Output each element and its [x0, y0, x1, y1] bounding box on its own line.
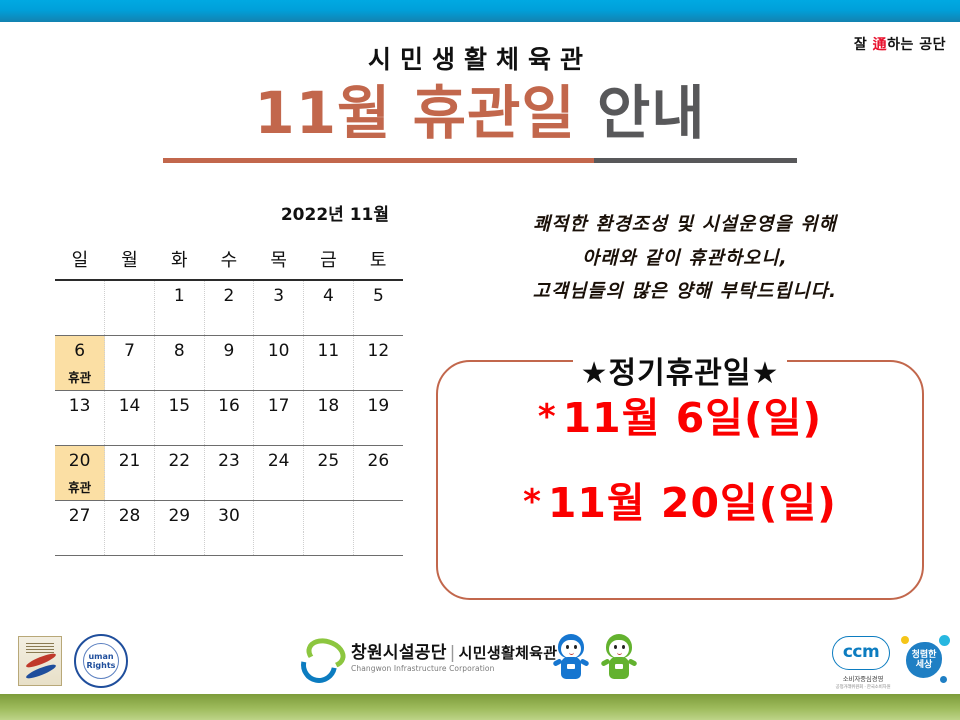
- notice-line-1: 쾌적한 환경조성 및 시설운영을 위해: [440, 208, 930, 242]
- human-rights-line2: Rights: [87, 661, 116, 670]
- calendar-day-28[interactable]: 28: [105, 501, 155, 533]
- calendar-day-empty: [254, 501, 304, 533]
- mascot-green-icon: [600, 634, 638, 686]
- calendar-cell-note: [105, 422, 155, 446]
- mascot-green-face: [609, 640, 629, 658]
- calendar-day-3[interactable]: 3: [254, 280, 304, 312]
- calendar-week-subrow: 휴관: [55, 367, 403, 391]
- ccm-caption-primary: 소비자중심경영: [832, 673, 894, 683]
- notice-line-2: 아래와 같이 휴관하오니,: [440, 242, 930, 276]
- mascot-green-eye-right: [622, 645, 625, 649]
- calendar-cell-note: [353, 312, 403, 336]
- calendar-cell-note: [353, 532, 403, 556]
- title-underline: [163, 158, 797, 163]
- calendar-header-row: 일월화수목금토: [55, 245, 403, 280]
- calendar-cell-note: [353, 477, 403, 501]
- venue-name: 시민생활체육관: [0, 40, 960, 76]
- calendar-day-2[interactable]: 2: [204, 280, 254, 312]
- org-name-divider: |: [450, 643, 456, 663]
- clean-world-dot-yellow: [901, 636, 909, 644]
- calendar-day-24[interactable]: 24: [254, 446, 304, 478]
- calendar-cell-note: [304, 312, 354, 336]
- calendar-cell-note: [204, 422, 254, 446]
- ccm-caption-secondary: 공정거래위원회 · 한국소비자원: [832, 684, 894, 690]
- calendar-day-1[interactable]: 1: [154, 280, 204, 312]
- calendar-cell-note: [154, 367, 204, 391]
- page-title: 11월 휴관일 안내: [0, 80, 960, 147]
- notice-text: 쾌적한 환경조성 및 시설운영을 위해아래와 같이 휴관하오니,고객님들의 많은…: [440, 208, 930, 309]
- calendar-day-5[interactable]: 5: [353, 280, 403, 312]
- calendar-day-22[interactable]: 22: [154, 446, 204, 478]
- calendar-day-25[interactable]: 25: [304, 446, 354, 478]
- mascot-green-eye-left: [614, 645, 617, 649]
- calendar-cell-note: [304, 477, 354, 501]
- org-name-korean: 창원시설공단|시민생활체육관: [351, 644, 557, 663]
- ccm-certification-logo: ccm 소비자중심경영 공정거래위원회 · 한국소비자원: [832, 636, 894, 690]
- closure-date-text: 11월 20일(일): [548, 479, 837, 527]
- calendar-day-29[interactable]: 29: [154, 501, 204, 533]
- calendar-caption: 2022년 11월: [55, 200, 403, 225]
- clean-world-dot-blue: [940, 676, 947, 683]
- human-rights-seal-label: uman Rights: [76, 653, 126, 671]
- calendar-cell-note: [254, 532, 304, 556]
- calendar-day-23[interactable]: 23: [204, 446, 254, 478]
- clean-world-dot-cyan: [939, 635, 950, 646]
- calendar-cell-note: [304, 422, 354, 446]
- calendar-day-9[interactable]: 9: [204, 336, 254, 368]
- calendar-cell-note: [55, 312, 105, 336]
- calendar-cell-note: [105, 477, 155, 501]
- calendar-cell-note: [154, 477, 204, 501]
- calendar-cell-note: [254, 367, 304, 391]
- calendar-week-row: 13141516171819: [55, 391, 403, 423]
- calendar-day-14[interactable]: 14: [105, 391, 155, 423]
- calendar-cell-note: [105, 367, 155, 391]
- calendar-cell-note: [154, 422, 204, 446]
- calendar-cell-note: [204, 367, 254, 391]
- calendar-day-17[interactable]: 17: [254, 391, 304, 423]
- changwon-logo-text: 창원시설공단|시민생활체육관 Changwon Infrastructure C…: [351, 644, 557, 673]
- calendar-cell-note: [204, 312, 254, 336]
- calendar-weekday-3: 수: [204, 245, 254, 280]
- notice-line-3: 고객님들의 많은 양해 부탁드립니다.: [440, 275, 930, 309]
- calendar-day-6[interactable]: 6: [55, 336, 105, 368]
- clean-world-line1: 청렴한: [912, 650, 937, 660]
- calendar-day-4[interactable]: 4: [304, 280, 354, 312]
- calendar-week-row: 12345: [55, 280, 403, 312]
- calendar-week-row: 20212223242526: [55, 446, 403, 478]
- calendar: 2022년 11월 일월화수목금토 123456789101112휴관13141…: [55, 200, 403, 556]
- calendar-cell-note: [353, 367, 403, 391]
- mascot-blue-face: [561, 640, 581, 658]
- calendar-cell-note: [304, 367, 354, 391]
- human-rights-seal-icon: uman Rights: [74, 634, 128, 688]
- page-title-dark: 안내: [597, 79, 706, 147]
- calendar-day-13[interactable]: 13: [55, 391, 105, 423]
- calendar-day-30[interactable]: 30: [204, 501, 254, 533]
- mascot-group: [552, 634, 638, 686]
- calendar-cell-note: [55, 532, 105, 556]
- calendar-day-8[interactable]: 8: [154, 336, 204, 368]
- calendar-week-subrow: [55, 532, 403, 556]
- calendar-cell-note: [254, 422, 304, 446]
- calendar-weekday-6: 토: [353, 245, 403, 280]
- closure-date-item-2: *11월 20일(일): [436, 483, 924, 524]
- calendar-weekday-4: 목: [254, 245, 304, 280]
- org-name-english: Changwon Infrastructure Corporation: [351, 665, 557, 673]
- clean-world-logo: 청렴한 세상: [900, 634, 950, 686]
- org-name-main: 창원시설공단: [351, 643, 447, 663]
- ccm-badge-label: ccm: [832, 636, 890, 670]
- footer: uman Rights 창원시설공단|시민생활체육관 Changwon Infr…: [0, 624, 960, 694]
- calendar-day-empty: [105, 280, 155, 312]
- calendar-cell-note: [55, 422, 105, 446]
- closure-bullet-icon: *: [523, 482, 542, 522]
- page-title-accent: 11월 휴관일: [254, 79, 575, 147]
- calendar-day-21[interactable]: 21: [105, 446, 155, 478]
- mascot-green-badge: [615, 664, 623, 669]
- closure-box-legend: ★정기휴관일★: [436, 348, 924, 392]
- calendar-cell-note: [154, 532, 204, 556]
- calendar-day-11[interactable]: 11: [304, 336, 354, 368]
- closure-legend-label: ★정기휴관일★: [573, 356, 788, 391]
- closure-date-text: 11월 6일(일): [563, 394, 823, 442]
- org-facility-name: 시민생활체육관: [459, 644, 558, 662]
- calendar-cell-note: [304, 532, 354, 556]
- changwon-mark-icon: [300, 638, 342, 680]
- calendar-cell-note: [105, 532, 155, 556]
- calendar-table: 일월화수목금토 123456789101112휴관131415161718192…: [55, 245, 403, 556]
- calendar-day-7[interactable]: 7: [105, 336, 155, 368]
- calendar-week-subrow: [55, 312, 403, 336]
- calendar-day-20[interactable]: 20: [55, 446, 105, 478]
- calendar-closed-label: 휴관: [55, 367, 105, 391]
- title-underline-dark: [594, 158, 797, 163]
- calendar-week-row: 27282930: [55, 501, 403, 533]
- calendar-cell-note: [204, 532, 254, 556]
- calendar-day-16[interactable]: 16: [204, 391, 254, 423]
- closure-bullet-icon: *: [538, 397, 557, 437]
- calendar-week-row: 6789101112: [55, 336, 403, 368]
- closure-date-list: *11월 6일(일)*11월 20일(일): [436, 398, 924, 568]
- calendar-day-12[interactable]: 12: [353, 336, 403, 368]
- calendar-weekday-5: 금: [304, 245, 354, 280]
- bottom-accent-bar: [0, 694, 960, 720]
- calendar-cell-note: [105, 312, 155, 336]
- calendar-week-subrow: 휴관: [55, 477, 403, 501]
- changwon-corporation-logo: 창원시설공단|시민생활체육관 Changwon Infrastructure C…: [300, 638, 557, 680]
- clean-world-label: 청렴한 세상: [906, 650, 942, 671]
- calendar-day-empty: [353, 501, 403, 533]
- calendar-weekday-2: 화: [154, 245, 204, 280]
- calendar-day-18[interactable]: 18: [304, 391, 354, 423]
- calendar-cell-note: [353, 422, 403, 446]
- calendar-weekday-1: 월: [105, 245, 155, 280]
- calendar-day-10[interactable]: 10: [254, 336, 304, 368]
- calendar-cell-note: [254, 312, 304, 336]
- mascot-blue-badge: [567, 664, 575, 669]
- calendar-cell-note: [254, 477, 304, 501]
- iso-text-lines: [26, 643, 54, 653]
- calendar-day-empty: [55, 280, 105, 312]
- clean-world-blob-icon: 청렴한 세상: [906, 642, 942, 678]
- closure-date-item-1: *11월 6일(일): [436, 398, 924, 439]
- calendar-day-19[interactable]: 19: [353, 391, 403, 423]
- top-accent-bar: [0, 0, 960, 22]
- calendar-day-empty: [304, 501, 354, 533]
- calendar-week-subrow: [55, 422, 403, 446]
- calendar-day-15[interactable]: 15: [154, 391, 204, 423]
- mascot-blue-icon: [552, 634, 590, 686]
- calendar-closed-label: 휴관: [55, 477, 105, 501]
- calendar-cell-note: [204, 477, 254, 501]
- calendar-day-26[interactable]: 26: [353, 446, 403, 478]
- mascot-blue-eye-right: [574, 645, 577, 649]
- calendar-day-27[interactable]: 27: [55, 501, 105, 533]
- mascot-blue-eye-left: [566, 645, 569, 649]
- title-underline-accent: [163, 158, 594, 163]
- calendar-weekday-0: 일: [55, 245, 105, 280]
- iso-certification-icon: [18, 636, 62, 686]
- calendar-cell-note: [154, 312, 204, 336]
- human-rights-line1: uman: [88, 652, 113, 661]
- clean-world-line2: 세상: [916, 660, 933, 670]
